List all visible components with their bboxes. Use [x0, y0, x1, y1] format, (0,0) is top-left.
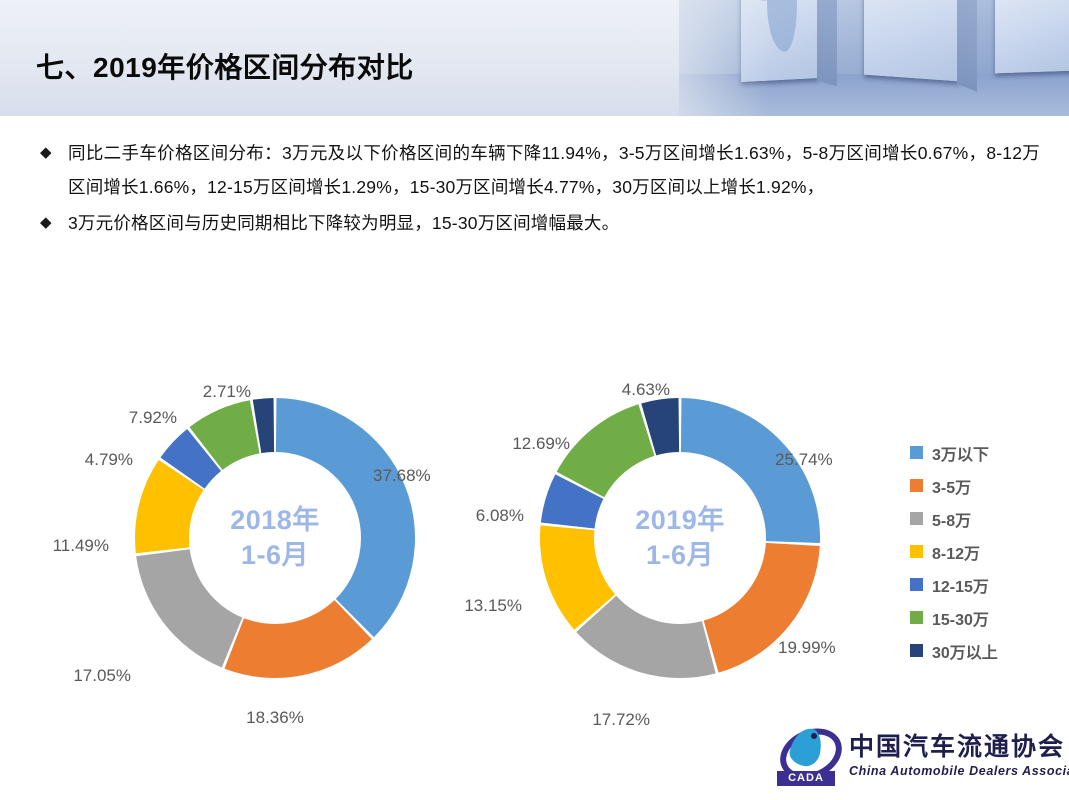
legend-swatch-icon — [910, 512, 923, 525]
donut-value-label-15-30万: 12.69% — [512, 434, 570, 454]
diamond-bullet-icon: ◆ — [40, 136, 68, 170]
donut-value-label-3-5万: 19.99% — [778, 638, 836, 658]
donut-value-label-3万以下: 25.74% — [775, 450, 833, 470]
donut-slice-5-8万[interactable] — [136, 549, 242, 667]
logo-english-name: China Automobile Dealers Association — [849, 764, 1069, 778]
donut-value-label-15-30万: 7.92% — [129, 408, 177, 428]
bullet-item-2: ◆ 3万元价格区间与历史同期相比下降较为明显，15-30万区间增幅最大。 — [40, 206, 1040, 240]
cada-emblem-icon: CADA — [775, 726, 841, 786]
bullet-text-2: 3万元价格区间与历史同期相比下降较为明显，15-30万区间增幅最大。 — [68, 206, 1040, 240]
legend-swatch-icon — [910, 545, 923, 558]
diamond-bullet-icon: ◆ — [40, 206, 68, 240]
bullet-list: ◆ 同比二手车价格区间分布：3万元及以下价格区间的车辆下降11.94%，3-5万… — [40, 136, 1040, 242]
logo-dot-shape — [811, 733, 817, 739]
donut-value-label-5-8万: 17.72% — [592, 710, 650, 730]
legend-swatch-icon — [910, 479, 923, 492]
legend-label: 3万以下 — [932, 441, 989, 465]
page-title: 七、2019年价格区间分布对比 — [36, 46, 414, 86]
header-art-fade — [679, 0, 769, 116]
cada-logo: CADA 中国汽车流通协会 China Automobile Dealers A… — [775, 725, 1060, 787]
donut-value-label-12-15万: 6.08% — [476, 506, 524, 526]
header-art-map-shape — [767, 0, 797, 53]
legend-swatch-icon — [910, 611, 923, 624]
header-art-cube-2-side — [957, 0, 977, 92]
legend-label: 3-5万 — [932, 474, 971, 498]
header-decorative-cubes-image — [679, 0, 1069, 116]
bullet-text-1: 同比二手车价格区间分布：3万元及以下价格区间的车辆下降11.94%，3-5万区间… — [68, 136, 1040, 204]
legend-item-0[interactable]: 3万以下 — [910, 436, 1060, 469]
legend-label: 12-15万 — [932, 573, 989, 597]
logo-chinese-name: 中国汽车流通协会 — [849, 734, 1069, 760]
legend-item-2[interactable]: 5-8万 — [910, 502, 1060, 535]
donut-value-label-5-8万: 17.05% — [73, 666, 131, 686]
donut-chart-2018: 2018年 1-6月 — [125, 388, 425, 688]
legend-swatch-icon — [910, 644, 923, 657]
legend-swatch-icon — [910, 578, 923, 591]
legend-label: 15-30万 — [932, 606, 989, 630]
legend-label: 5-8万 — [932, 507, 971, 531]
donut-value-label-30万以上: 4.63% — [622, 380, 670, 400]
logo-abbr: CADA — [777, 771, 835, 786]
legend-item-6[interactable]: 30万以上 — [910, 634, 1060, 667]
bullet-item-1: ◆ 同比二手车价格区间分布：3万元及以下价格区间的车辆下降11.94%，3-5万… — [40, 136, 1040, 204]
legend-label: 8-12万 — [932, 540, 980, 564]
charts-area: 2018年 1-6月 2019年 1-6月 37.68%18.36%17.05%… — [0, 340, 1069, 740]
donut-value-label-12-15万: 4.79% — [85, 450, 133, 470]
donut-slice-3万以下[interactable] — [681, 398, 820, 543]
donut-value-label-30万以上: 2.71% — [203, 382, 251, 402]
header-art-cube-1-side — [817, 0, 837, 86]
legend-swatch-icon — [910, 446, 923, 459]
logo-text-block: 中国汽车流通协会 China Automobile Dealers Associ… — [849, 734, 1069, 777]
donut-slice-3万以下[interactable] — [276, 398, 415, 637]
legend-item-1[interactable]: 3-5万 — [910, 469, 1060, 502]
donut-value-label-8-12万: 11.49% — [53, 536, 109, 556]
legend-item-4[interactable]: 12-15万 — [910, 568, 1060, 601]
legend-item-3[interactable]: 8-12万 — [910, 535, 1060, 568]
header-art-cube-2 — [864, 0, 959, 81]
donut-value-label-3万以下: 37.68% — [373, 466, 431, 486]
donut-value-label-8-12万: 13.15% — [464, 596, 522, 616]
donut-chart-2018-svg — [125, 388, 425, 688]
donut-value-label-3-5万: 18.36% — [246, 708, 304, 728]
chart-legend: 3万以下3-5万5-8万8-12万12-15万15-30万30万以上 — [910, 436, 1060, 667]
slide-header-band: 七、2019年价格区间分布对比 — [0, 0, 1069, 116]
legend-label: 30万以上 — [932, 639, 998, 663]
legend-item-5[interactable]: 15-30万 — [910, 601, 1060, 634]
header-art-cube-3 — [995, 0, 1069, 73]
